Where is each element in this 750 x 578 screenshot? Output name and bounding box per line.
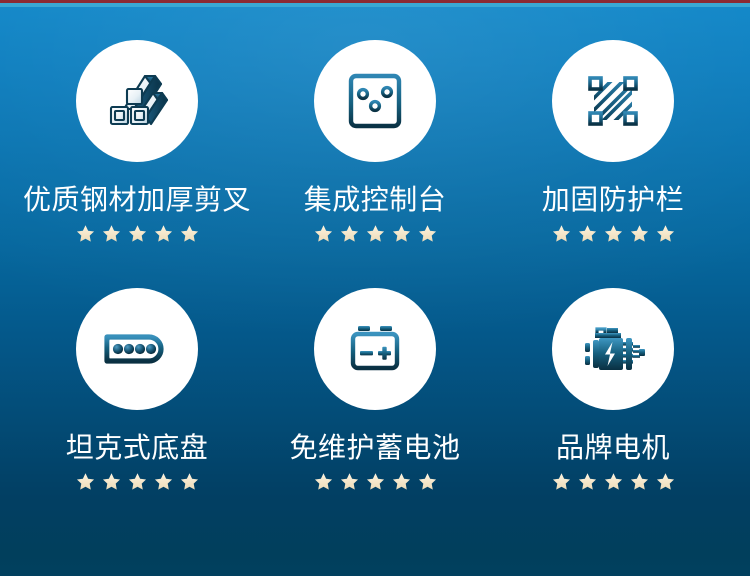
star-icon bbox=[418, 472, 437, 491]
rating-stars bbox=[76, 224, 199, 243]
rating-stars bbox=[314, 472, 437, 491]
star-icon bbox=[656, 472, 675, 491]
feature-card-reinforced-guardrail[interactable]: 加固防护栏 bbox=[494, 40, 732, 288]
feature-card-integrated-control-panel[interactable]: 集成控制台 bbox=[256, 40, 494, 288]
star-icon bbox=[314, 472, 333, 491]
steel-beams-icon bbox=[101, 65, 173, 137]
feature-label: 品牌电机 bbox=[556, 432, 670, 463]
icon-badge bbox=[76, 40, 198, 162]
icon-badge bbox=[76, 288, 198, 410]
star-icon bbox=[392, 224, 411, 243]
star-icon bbox=[128, 224, 147, 243]
star-icon bbox=[552, 472, 571, 491]
star-icon bbox=[630, 224, 649, 243]
feature-label: 加固防护栏 bbox=[542, 184, 685, 215]
feature-card-steel-scissor-fork[interactable]: 优质钢材加厚剪叉 bbox=[18, 40, 256, 288]
icon-badge bbox=[314, 40, 436, 162]
star-icon bbox=[180, 224, 199, 243]
feature-card-maintenance-free-battery[interactable]: 免维护蓄电池 bbox=[256, 288, 494, 536]
battery-icon bbox=[342, 316, 408, 382]
rating-stars bbox=[76, 472, 199, 491]
star-icon bbox=[630, 472, 649, 491]
star-icon bbox=[604, 472, 623, 491]
star-icon bbox=[578, 224, 597, 243]
control-sliders-icon bbox=[342, 68, 408, 134]
star-icon bbox=[366, 472, 385, 491]
star-icon bbox=[102, 224, 121, 243]
star-icon bbox=[154, 472, 173, 491]
star-icon bbox=[76, 472, 95, 491]
star-icon bbox=[578, 472, 597, 491]
star-icon bbox=[604, 224, 623, 243]
star-icon bbox=[366, 224, 385, 243]
star-icon bbox=[418, 224, 437, 243]
guardrail-frame-icon bbox=[580, 68, 646, 134]
star-icon bbox=[340, 224, 359, 243]
feature-label: 免维护蓄电池 bbox=[289, 432, 460, 463]
rating-stars bbox=[552, 224, 675, 243]
feature-label: 集成控制台 bbox=[304, 184, 447, 215]
star-icon bbox=[102, 472, 121, 491]
star-icon bbox=[76, 224, 95, 243]
star-icon bbox=[656, 224, 675, 243]
rating-stars bbox=[552, 472, 675, 491]
star-icon bbox=[392, 472, 411, 491]
icon-badge bbox=[314, 288, 436, 410]
star-icon bbox=[314, 224, 333, 243]
feature-card-tank-chassis[interactable]: 坦克式底盘 bbox=[18, 288, 256, 536]
track-chassis-icon bbox=[101, 313, 173, 385]
feature-label: 优质钢材加厚剪叉 bbox=[23, 184, 251, 215]
feature-card-brand-motor[interactable]: 品牌电机 bbox=[494, 288, 732, 536]
rating-stars bbox=[314, 224, 437, 243]
star-icon bbox=[154, 224, 173, 243]
electric-motor-icon bbox=[577, 313, 649, 385]
star-icon bbox=[340, 472, 359, 491]
icon-badge bbox=[552, 288, 674, 410]
top-accent-stripe-cyan bbox=[0, 3, 750, 7]
feature-label: 坦克式底盘 bbox=[66, 432, 209, 463]
star-icon bbox=[128, 472, 147, 491]
feature-grid: 优质钢材加厚剪叉 bbox=[0, 0, 750, 536]
feature-banner: 优质钢材加厚剪叉 bbox=[0, 0, 750, 578]
star-icon bbox=[180, 472, 199, 491]
star-icon bbox=[552, 224, 571, 243]
icon-badge bbox=[552, 40, 674, 162]
